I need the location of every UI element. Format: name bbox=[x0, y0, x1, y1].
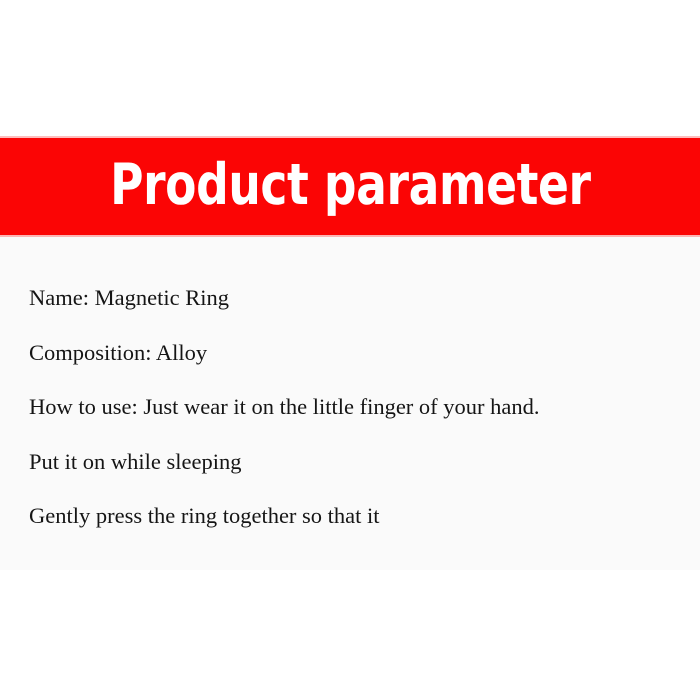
top-whitespace bbox=[0, 0, 700, 136]
banner-bottom-edge bbox=[0, 235, 700, 237]
spec-panel: Name: Magnetic Ring Composition: Alloy H… bbox=[0, 237, 700, 570]
list-item: How to use: Just wear it on the little f… bbox=[29, 380, 672, 435]
list-item: Name: Magnetic Ring bbox=[29, 271, 672, 326]
list-item: Composition: Alloy bbox=[29, 326, 672, 381]
page-title: Product parameter bbox=[110, 157, 591, 216]
list-item: Gently press the ring together so that i… bbox=[29, 489, 672, 544]
list-item: Put it on while sleeping bbox=[29, 435, 672, 490]
product-parameter-banner: Product parameter bbox=[0, 136, 700, 237]
product-parameter-card: Product parameter Name: Magnetic Ring Co… bbox=[0, 0, 700, 700]
bottom-whitespace bbox=[0, 570, 700, 700]
spec-list: Name: Magnetic Ring Composition: Alloy H… bbox=[29, 271, 672, 544]
banner-top-edge bbox=[0, 136, 700, 138]
